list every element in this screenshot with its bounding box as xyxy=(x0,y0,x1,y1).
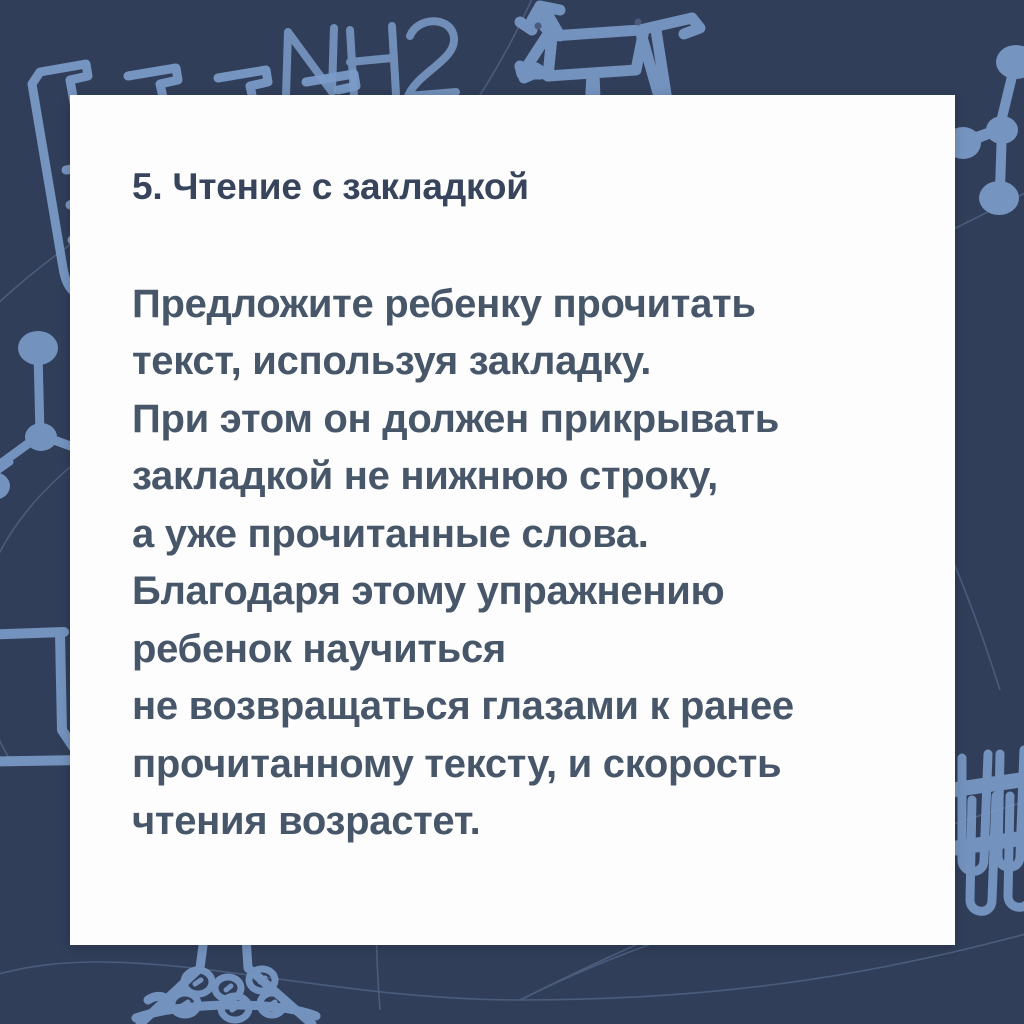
body-line: прочитанному тексту, и скорость xyxy=(132,736,897,794)
body-line: закладкой не нижнюю строку, xyxy=(132,448,897,506)
test-tube-rack-bottom-right-icon xyxy=(952,750,1024,911)
body-line: текст, используя закладку. xyxy=(132,333,897,391)
content-card: 5. Чтение с закладкой Предложите ребенку… xyxy=(70,95,955,945)
body-line: а уже прочитанные слова. xyxy=(132,506,897,564)
nh2-formula-icon xyxy=(286,21,456,96)
body-line: ребенок научиться xyxy=(132,621,897,679)
page-title: 5. Чтение с закладкой xyxy=(132,167,897,208)
body-line: Благодаря этому упражнению xyxy=(132,563,897,621)
body-line: чтения возрастет. xyxy=(132,793,897,851)
body-line: При этом он должен прикрывать xyxy=(132,391,897,449)
body-line: не возвращаться глазами к ранее xyxy=(132,678,897,736)
title-body-spacer xyxy=(132,208,897,276)
body-text-block: Предложите ребенку прочитать текст, испо… xyxy=(132,276,897,851)
erlenmeyer-flask-bottom-icon xyxy=(136,936,316,1024)
body-line: Предложите ребенку прочитать xyxy=(132,276,897,334)
slide-canvas: 5. Чтение с закладкой Предложите ребенку… xyxy=(0,0,1024,1024)
molecule-left-icon xyxy=(0,331,76,500)
